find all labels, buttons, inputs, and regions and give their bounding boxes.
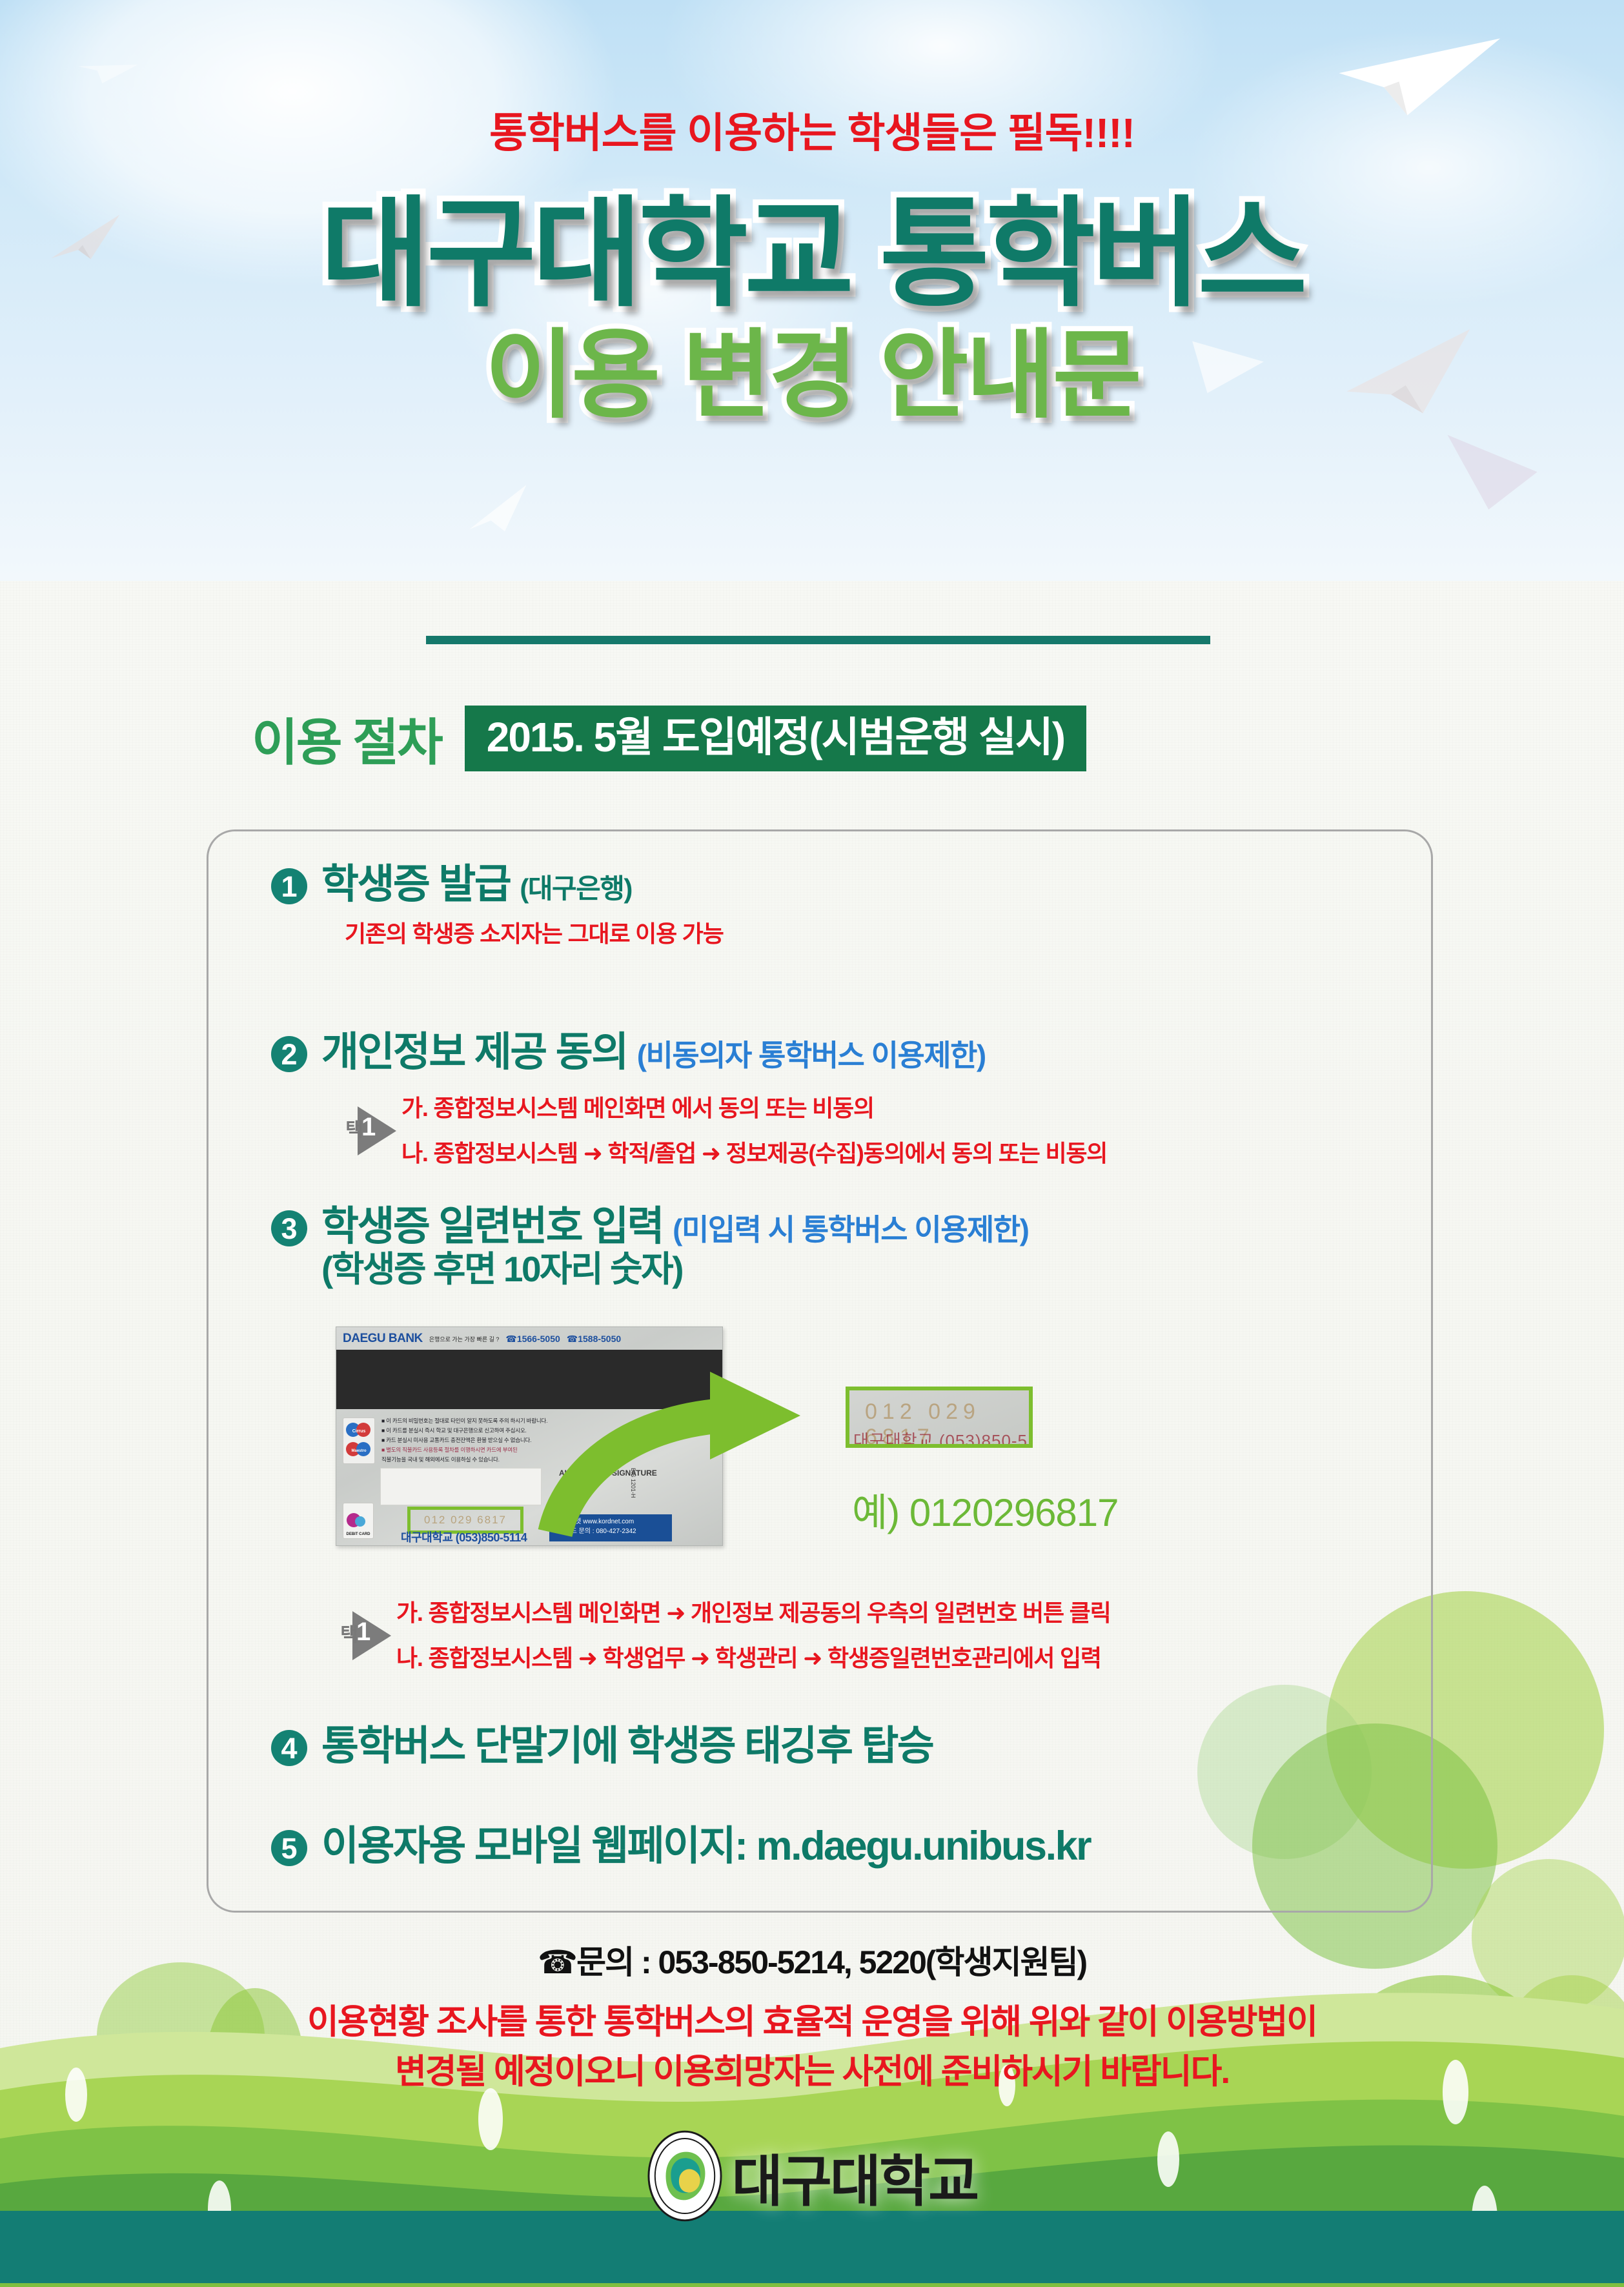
university-contact-line: 대구대학교 (053)850-5114 (401, 1529, 527, 1545)
step-item-5: 5 이용자용 모바일 웹페이지: m.daegu.unibus.kr (271, 1824, 1090, 1869)
card-serial-number: 012 029 6817 (424, 1514, 507, 1527)
signature-strip (380, 1468, 542, 1505)
step-title: 학생증 일련번호 입력 (미입력 시 통학버스 이용제한) (321, 1204, 1029, 1250)
step-number-badge: 2 (271, 1036, 307, 1072)
step-title-text: 학생증 발급 (321, 862, 510, 907)
step-title: 이용자용 모바일 웹페이지: m.daegu.unibus.kr (321, 1824, 1090, 1869)
title-line-2: 이용 변경 안내문 (0, 325, 1624, 427)
step-title-paren: (대구은행) (520, 873, 632, 904)
step-number-badge: 4 (271, 1730, 307, 1766)
svg-text:Maestro: Maestro (351, 1449, 366, 1453)
step-title: 학생증 발급 (대구은행) (321, 862, 724, 908)
cirrus-maestro-logo-icon: Cirrus Maestro (343, 1418, 375, 1464)
choice-group: 택 1 가. 종합정보시스템 메인화면 ➜ 개인정보 제공동의 우측의 일련번호… (337, 1591, 1111, 1681)
bank-tel-2: ☎1588-5050 (567, 1334, 621, 1345)
choose-one-marker: 택 1 (342, 1100, 401, 1162)
svg-text:Cirrus: Cirrus (352, 1429, 366, 1434)
poster-title: 대구대학교 통학버스 이용 변경 안내문 (0, 194, 1624, 426)
university-logo: 대구대학교 (0, 2130, 1624, 2222)
kicker-text: 통학버스를 이용하는 학생들은 필독!!!! (0, 100, 1624, 159)
step-subtitle: (학생증 후면 10자리 숫자) (321, 1250, 1029, 1290)
university-seal-icon (647, 2130, 723, 2222)
notice-line-2: 변경될 예정이오니 이용희망자는 사전에 준비하시기 바랍니다. (0, 2048, 1624, 2097)
step-item-3: 3 학생증 일련번호 입력 (미입력 시 통학버스 이용제한) (학생증 후면 … (271, 1204, 1029, 1289)
step-item-1: 1 학생증 발급 (대구은행) 기존의 학생증 소지자는 그대로 이용 가능 (271, 862, 724, 949)
choice-option: 나. 종합정보시스템 ➜ 학적/졸업 ➜ 정보제공(수집)동의에서 동의 또는 … (401, 1131, 1107, 1176)
notice-line-1: 이용현황 조사를 통한 통학버스의 효율적 운영을 위해 위와 같이 이용방법이 (0, 1998, 1624, 2048)
poster-root: 통학버스를 이용하는 학생들은 필독!!!! 대구대학교 통학버스 이용 변경 … (0, 0, 1624, 2287)
step-title-text: 학생증 일련번호 입력 (321, 1204, 663, 1249)
bank-brand: DAEGU BANK (343, 1332, 423, 1346)
section-badge: 2015. 5월 도입예정(시범운행 실시) (465, 706, 1086, 771)
step-item-4: 4 통학버스 단말기에 학생증 태깅후 탑승 (271, 1723, 933, 1769)
step-title-text: 개인정보 제공 동의 (321, 1030, 627, 1075)
section-header: 이용 절차 2015. 5월 도입예정(시범운행 실시) (252, 702, 1086, 775)
step-note: 기존의 학생증 소지자는 그대로 이용 가능 (345, 915, 724, 949)
step-title-paren: (비동의자 통학버스 이용제한) (637, 1039, 986, 1072)
bank-tagline: 은행으로 가는 가장 빠른 길 ? (429, 1335, 500, 1343)
step-number-badge: 5 (271, 1830, 307, 1866)
title-line-1: 대구대학교 통학버스 (0, 194, 1624, 316)
choose-label: 택 (337, 1624, 356, 1643)
debit-label: DEBIT CARD (347, 1532, 370, 1536)
title-divider (426, 636, 1210, 644)
step-title: 개인정보 제공 동의 (비동의자 통학버스 이용제한) (321, 1030, 1107, 1075)
step-number-badge: 1 (271, 868, 307, 904)
university-logo-text: 대구대학교 (732, 2136, 978, 2217)
step-item-2: 2 개인정보 제공 동의 (비동의자 통학버스 이용제한) 택 1 가. 종합정… (271, 1030, 1107, 1176)
section-label: 이용 절차 (252, 702, 442, 775)
step-number-badge: 3 (271, 1210, 307, 1246)
choose-one-marker: 택 1 (337, 1605, 396, 1667)
choose-label: 택 (342, 1119, 361, 1138)
choose-count: 1 (361, 1114, 376, 1140)
step-title-paren: (미입력 시 통학버스 이용제한) (673, 1213, 1028, 1246)
notice-block: 이용현황 조사를 통한 통학버스의 효율적 운영을 위해 위와 같이 이용방법이… (0, 1998, 1624, 2097)
choice-group: 택 1 가. 종합정보시스템 메인화면 에서 동의 또는 비동의 나. 종합정보… (342, 1086, 1107, 1176)
bank-card-header: DAEGU BANK 은행으로 가는 가장 빠른 길 ? ☎1566-5050 … (343, 1330, 718, 1347)
green-arrow-icon (529, 1346, 865, 1543)
serial-zoom-callout: 012 029 6817 대구대학교 (053)850-5 (846, 1387, 1033, 1448)
contact-line: ☎문의 : 053-850-5214, 5220(학생지원팀) (0, 1936, 1624, 1983)
example-serial-text: 예) 0120296817 (852, 1481, 1119, 1538)
bank-tel-1: ☎1566-5050 (505, 1334, 560, 1345)
choice-option: 가. 종합정보시스템 메인화면 ➜ 개인정보 제공동의 우측의 일련번호 버튼 … (396, 1591, 1111, 1636)
choose-count: 1 (356, 1619, 370, 1645)
debit-card-logo-icon: DEBIT CARD (343, 1503, 374, 1539)
choice-option: 가. 종합정보시스템 메인화면 에서 동의 또는 비동의 (401, 1086, 1107, 1131)
choice-option: 나. 종합정보시스템 ➜ 학생업무 ➜ 학생관리 ➜ 학생증일련번호관리에서 입… (396, 1636, 1111, 1681)
zoom-underline-text: 대구대학교 (053)850-5 (853, 1428, 1028, 1448)
step-title: 통학버스 단말기에 학생증 태깅후 탑승 (321, 1723, 933, 1769)
